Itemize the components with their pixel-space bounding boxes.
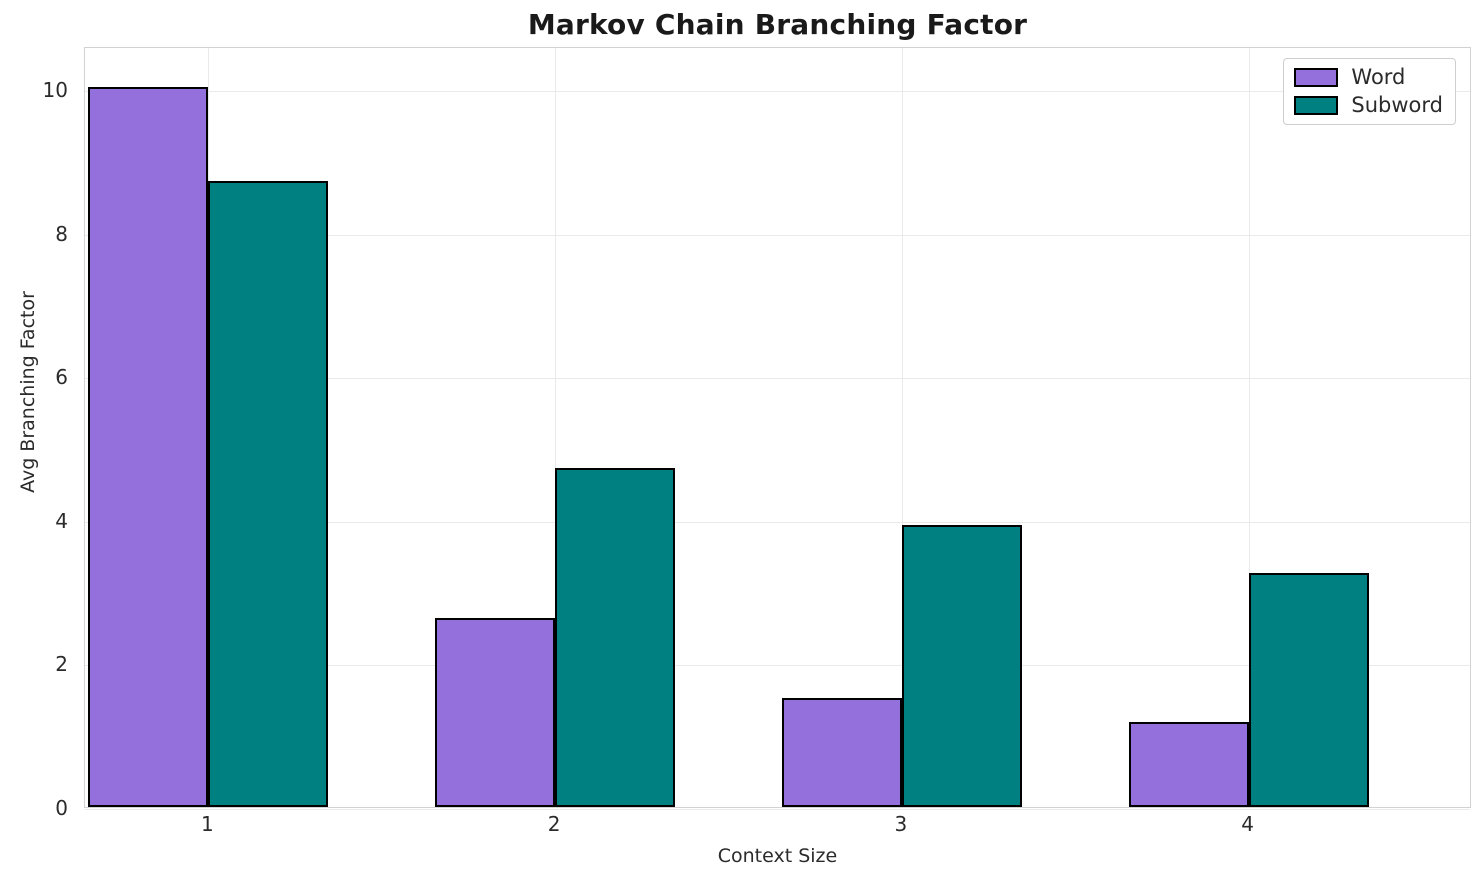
plot-area: WordSubword [84, 47, 1471, 808]
x-axis-tick-label: 2 [494, 812, 614, 836]
bar-word-4[interactable] [1129, 722, 1249, 807]
y-axis-tick-label: 10 [8, 78, 68, 102]
bar-word-2[interactable] [435, 618, 555, 807]
y-axis-tick-label: 0 [8, 796, 68, 820]
legend-swatch-word [1294, 68, 1338, 87]
bar-word-1[interactable] [88, 87, 208, 807]
legend-label: Word [1351, 67, 1405, 88]
bar-subword-4[interactable] [1249, 573, 1369, 807]
legend-swatch-subword [1294, 96, 1338, 115]
x-axis-tick-label: 1 [147, 812, 267, 836]
gridline-horizontal [85, 91, 1470, 92]
y-axis-label: Avg Branching Factor [17, 192, 39, 592]
x-axis-tick-label: 4 [1188, 812, 1308, 836]
chart-legend[interactable]: WordSubword [1283, 58, 1456, 125]
y-axis-tick-label: 2 [8, 652, 68, 676]
bar-subword-3[interactable] [902, 525, 1022, 807]
legend-label: Subword [1351, 95, 1443, 116]
bar-subword-1[interactable] [208, 181, 328, 807]
gridline-horizontal [85, 809, 1470, 810]
x-axis-tick-labels: 1234 [84, 812, 1471, 846]
bar-subword-2[interactable] [555, 468, 675, 807]
bar-word-3[interactable] [782, 698, 902, 807]
chart-title: Markov Chain Branching Factor [84, 8, 1471, 41]
legend-item-word[interactable]: Word [1294, 67, 1443, 88]
x-axis-tick-label: 3 [841, 812, 961, 836]
chart-figure: Markov Chain Branching Factor 0246810 Av… [0, 0, 1484, 885]
x-axis-label: Context Size [84, 845, 1471, 867]
legend-item-subword[interactable]: Subword [1294, 95, 1443, 116]
